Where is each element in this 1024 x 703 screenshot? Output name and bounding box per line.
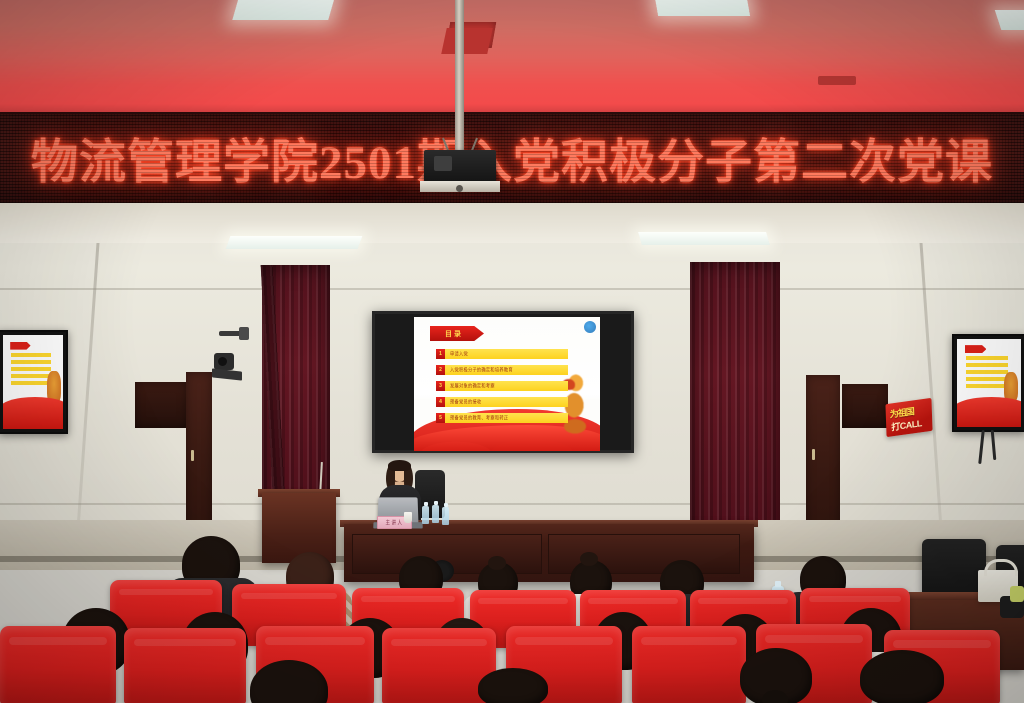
list-item-label: 入党积极分子的确定和培养教育 — [450, 366, 513, 374]
wall-soffit — [0, 203, 1024, 243]
monitor-right-wave-graphic — [957, 397, 1021, 427]
slide-logo-icon — [584, 321, 596, 333]
water-bottle — [432, 505, 439, 523]
door-left[interactable] — [186, 372, 212, 544]
list-item: 2 入党积极分子的确定和培养教育 — [436, 365, 568, 375]
projection-screen: 目录 1 申请入党 2 入党积极分子的确定和培养教育 3 发展对象的确定和考察 … — [372, 311, 634, 453]
presenter-hair-top — [388, 460, 411, 471]
monitor-left-wave-graphic — [3, 397, 63, 429]
paper-cup — [404, 512, 412, 523]
list-item: 4 预备党员的接收 — [436, 397, 568, 407]
list-item: 3 发展对象的确定和考察 — [436, 381, 568, 391]
monitor-left-list — [11, 353, 51, 357]
projector-ceiling-plate — [441, 28, 493, 54]
auditorium-seat[interactable] — [0, 626, 116, 703]
monitor-left-contents-badge — [10, 342, 30, 350]
slide-contents-label: 目录 — [445, 329, 463, 339]
door-right-handle[interactable] — [812, 449, 815, 460]
patriotic-wall-sign: 为祖国 打CALL — [885, 398, 932, 437]
audience-head — [478, 668, 548, 703]
list-item-label: 申请入党 — [450, 350, 468, 358]
monitor-left-screen — [3, 335, 63, 429]
auditorium-seat[interactable] — [632, 626, 746, 703]
projector-pole — [455, 0, 464, 155]
list-item-number: 1 — [436, 349, 445, 359]
list-item-number: 4 — [436, 397, 445, 407]
wall-trim-upper — [0, 288, 1024, 290]
presenter-nameplate-text: 主讲人 — [386, 519, 404, 527]
list-item-number: 2 — [436, 365, 445, 375]
projector-knob — [456, 185, 463, 192]
list-item: 1 申请入党 — [436, 349, 568, 359]
stage-curtain-right — [690, 262, 780, 544]
wall-trim-lower — [0, 503, 1024, 505]
ptz-camera-icon — [214, 353, 234, 370]
monitor-left — [0, 330, 68, 434]
lecture-hall-photo: 物流管理学院2501期入党积极分子第二次党课 为祖国 打CALL — [0, 0, 1024, 703]
monitor-right-list — [966, 356, 1008, 360]
ceiling-light-left — [232, 0, 335, 20]
door-right[interactable] — [806, 375, 840, 543]
door-left-handle[interactable] — [191, 450, 194, 461]
projector-lens-icon — [434, 156, 452, 171]
list-item-number: 3 — [436, 381, 445, 391]
led-banner: 物流管理学院2501期入党积极分子第二次党课 — [0, 112, 1024, 206]
audience-head — [860, 650, 944, 703]
monitor-right-screen — [957, 339, 1021, 427]
monitor-right-contents-badge — [965, 345, 987, 353]
green-item — [1010, 586, 1024, 602]
lectern — [262, 493, 336, 563]
list-item: 5 预备党员的教育、考察和转正 — [436, 413, 568, 423]
presentation-slide: 目录 1 申请入党 2 入党积极分子的确定和培养教育 3 发展对象的确定和考察 … — [414, 317, 600, 451]
audience-hair-bun — [488, 556, 506, 570]
hall-ceiling-light-right — [638, 232, 770, 245]
wall-sign-line2: 打CALL — [891, 416, 922, 433]
ceiling-vent-secondary-icon — [818, 76, 856, 85]
list-item-number: 5 — [436, 413, 445, 423]
list-item-label: 预备党员的接收 — [450, 398, 481, 406]
wall-panel-left-upper — [135, 382, 187, 428]
slide-contents-list: 1 申请入党 2 入党积极分子的确定和培养教育 3 发展对象的确定和考察 4 预… — [436, 349, 568, 429]
wall-panel-right-upper — [842, 384, 888, 428]
ptz-camera-arm — [219, 331, 245, 336]
auditorium-seat[interactable] — [124, 628, 246, 703]
audience-hair-bun — [762, 690, 788, 703]
water-bottle — [442, 507, 449, 525]
hall-ceiling-light-left — [226, 236, 363, 249]
audience-hair-bun — [580, 552, 598, 566]
ceiling — [0, 0, 1024, 118]
list-item-label: 预备党员的教育、考察和转正 — [450, 414, 508, 422]
monitor-right — [952, 334, 1024, 432]
list-item-label: 发展对象的确定和考察 — [450, 382, 495, 390]
slide-contents-banner: 目录 — [430, 326, 484, 341]
ceiling-light-right — [654, 0, 750, 16]
led-banner-text: 物流管理学院2501期入党积极分子第二次党课 — [0, 123, 1024, 192]
water-bottle — [422, 506, 429, 524]
